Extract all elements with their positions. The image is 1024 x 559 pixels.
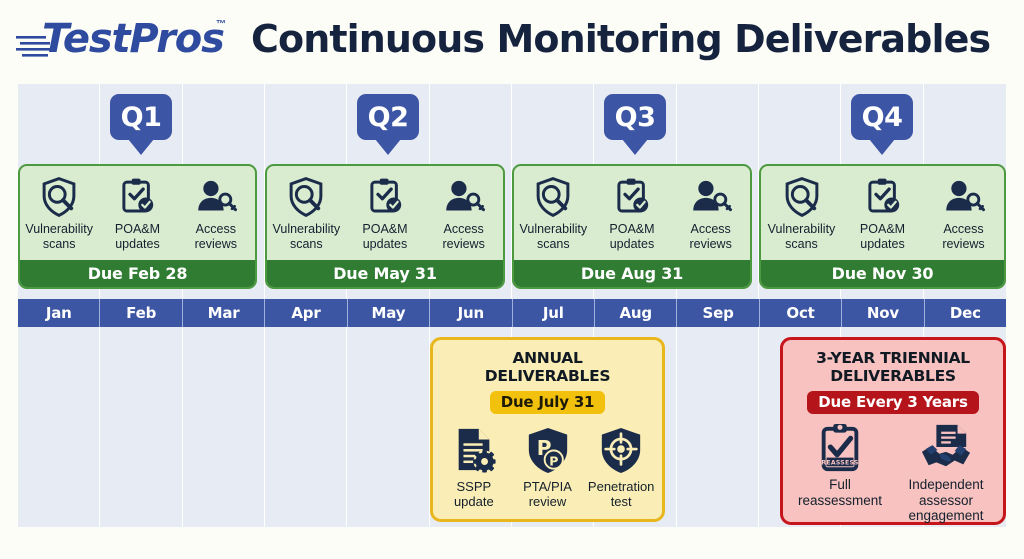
month-cell-jan[interactable]: Jan xyxy=(18,299,100,327)
label-line-2: reviews xyxy=(195,237,237,251)
quarter-due-label-q2: Due May 31 xyxy=(267,260,503,287)
label-line-1: SSPP xyxy=(456,479,491,494)
label-line-2: reviews xyxy=(442,237,484,251)
month-label: Mar xyxy=(208,304,240,322)
quarter-item-vulnerability-scans[interactable]: Vulnerability scans xyxy=(20,174,98,251)
month-cell-aug[interactable]: Aug xyxy=(595,299,677,327)
quarter-item-vulnerability-scans[interactable]: Vulnerability scans xyxy=(514,174,592,251)
month-label: May xyxy=(372,304,406,322)
label-line-2: updates xyxy=(610,237,654,251)
label-line-1: Vulnerability xyxy=(273,222,341,236)
month-label: Jan xyxy=(46,304,72,322)
triennial-deliverables-box[interactable]: 3-YEAR TRIENNIAL DELIVERABLES Due Every … xyxy=(780,337,1006,525)
reassess-icon-text: REASSESS xyxy=(821,460,858,467)
clipboard-check-icon xyxy=(364,174,406,220)
annual-item-sspp-update[interactable]: SSPP update xyxy=(437,424,511,509)
label-line-2: scans xyxy=(785,237,818,251)
triennial-title-line-1: 3-YEAR TRIENNIAL xyxy=(816,349,970,367)
annual-item-label: SSPP update xyxy=(454,479,494,509)
month-label: Dec xyxy=(950,304,981,322)
clipboard-reassess-icon: REASSESS xyxy=(816,422,864,474)
user-key-icon xyxy=(194,174,238,220)
triennial-items: REASSESS Full reassessment xyxy=(783,422,1003,524)
month-bar: JanFebMarAprMayJunJulAugSepOctNovDec xyxy=(18,299,1006,327)
annual-deliverables-box[interactable]: ANNUAL DELIVERABLES Due July 31 xyxy=(430,337,665,522)
triennial-item-independent-assessor[interactable]: Independent assessor engagement xyxy=(893,422,999,524)
quarter-items: Vulnerability scans POA&M updates xyxy=(514,166,750,259)
month-cell-mar[interactable]: Mar xyxy=(183,299,265,327)
month-label: Sep xyxy=(703,304,734,322)
trademark-symbol: ™ xyxy=(216,19,226,30)
triennial-item-label: Independent assessor engagement xyxy=(908,477,983,524)
quarter-panel-q3[interactable]: Vulnerability scans POA&M updates xyxy=(512,164,752,289)
month-cell-nov[interactable]: Nov xyxy=(842,299,924,327)
label-line-2: updates xyxy=(115,237,159,251)
user-key-icon xyxy=(442,174,486,220)
label-line-1: Vulnerability xyxy=(520,222,588,236)
quarter-panel-q4[interactable]: Vulnerability scans POA&M updates xyxy=(759,164,1006,289)
label-line-1: PTA/PIA xyxy=(523,479,572,494)
label-line-1: Independent xyxy=(908,477,983,492)
quarter-item-poam-updates[interactable]: POA&M updates xyxy=(346,174,424,251)
quarter-panel-q2[interactable]: Vulnerability scans POA&M updates xyxy=(265,164,505,289)
quarter-due-label-q1: Due Feb 28 xyxy=(20,260,255,287)
shield-target-icon xyxy=(598,424,644,476)
quarter-item-label: Vulnerability scans xyxy=(273,222,341,251)
label-line-2: scans xyxy=(537,237,570,251)
infographic-root: TestPros ™ Continuous Monitoring Deliver… xyxy=(0,0,1024,559)
svg-text:P: P xyxy=(549,453,558,468)
label-line-1: Full xyxy=(829,477,851,492)
label-line-2: updates xyxy=(860,237,904,251)
testpros-logo: TestPros ™ xyxy=(14,13,229,65)
clipboard-check-icon xyxy=(611,174,653,220)
label-line-1: Access xyxy=(196,222,236,236)
triennial-item-label: Full reassessment xyxy=(798,477,882,508)
quarter-badge-q4[interactable]: Q4 xyxy=(851,94,913,140)
document-gear-icon xyxy=(451,424,497,476)
quarter-item-poam-updates[interactable]: POA&M updates xyxy=(99,174,177,251)
label-line-1: Access xyxy=(443,222,483,236)
quarter-item-label: Vulnerability scans xyxy=(768,222,836,251)
label-line-1: POA&M xyxy=(609,222,654,236)
quarter-item-label: Access reviews xyxy=(689,222,731,251)
shield-privacy-icon: P P xyxy=(525,424,571,476)
quarter-item-poam-updates[interactable]: POA&M updates xyxy=(842,174,922,251)
month-label: Oct xyxy=(786,304,814,322)
triennial-item-full-reassessment[interactable]: REASSESS Full reassessment xyxy=(787,422,893,508)
month-label: Jun xyxy=(458,304,484,322)
user-key-icon xyxy=(689,174,733,220)
month-cell-oct[interactable]: Oct xyxy=(760,299,842,327)
label-line-1: POA&M xyxy=(860,222,905,236)
label-line-2: scans xyxy=(290,237,323,251)
quarter-item-label: POA&M updates xyxy=(609,222,654,251)
quarter-badge-q3[interactable]: Q3 xyxy=(604,94,666,140)
annual-title-line-1: ANNUAL xyxy=(512,349,582,367)
label-line-2: reviews xyxy=(942,237,984,251)
month-cell-feb[interactable]: Feb xyxy=(100,299,182,327)
quarter-panel-q1[interactable]: Vulnerability scans POA&M updates xyxy=(18,164,257,289)
logo-wordmark: TestPros xyxy=(42,17,224,61)
month-cell-dec[interactable]: Dec xyxy=(925,299,1006,327)
quarter-item-label: POA&M updates xyxy=(115,222,160,251)
annual-due-badge: Due July 31 xyxy=(490,391,606,414)
label-line-1: Penetration xyxy=(588,479,655,494)
triennial-title: 3-YEAR TRIENNIAL DELIVERABLES xyxy=(783,340,1003,385)
month-label: Nov xyxy=(867,304,899,322)
shield-magnifier-icon xyxy=(285,174,327,220)
label-line-2: scans xyxy=(43,237,76,251)
quarter-items: Vulnerability scans POA&M updates xyxy=(267,166,503,259)
quarter-item-vulnerability-scans[interactable]: Vulnerability scans xyxy=(761,174,841,251)
quarter-item-label: Vulnerability scans xyxy=(25,222,93,251)
quarter-item-label: POA&M updates xyxy=(362,222,407,251)
month-cell-apr[interactable]: Apr xyxy=(265,299,347,327)
month-label: Apr xyxy=(291,304,320,322)
label-line-2: reassessment xyxy=(798,493,882,508)
label-line-2: assessor xyxy=(919,493,973,508)
quarter-item-access-reviews[interactable]: Access reviews xyxy=(923,174,1003,251)
label-line-1: Access xyxy=(690,222,730,236)
quarter-item-label: Access reviews xyxy=(442,222,484,251)
header: TestPros ™ Continuous Monitoring Deliver… xyxy=(0,0,1024,78)
annual-title-line-2: DELIVERABLES xyxy=(485,367,610,385)
clipboard-check-icon xyxy=(116,174,158,220)
label-line-2: update xyxy=(454,494,494,509)
quarter-items: Vulnerability scans POA&M updates xyxy=(761,166,1004,259)
quarter-badge-q1[interactable]: Q1 xyxy=(110,94,172,140)
shield-magnifier-icon xyxy=(38,174,80,220)
label-line-1: Vulnerability xyxy=(25,222,93,236)
annual-item-label: PTA/PIA review xyxy=(523,479,572,509)
label-line-3: engagement xyxy=(908,508,983,523)
month-cell-may[interactable]: May xyxy=(348,299,430,327)
quarter-items: Vulnerability scans POA&M updates xyxy=(20,166,255,259)
quarter-item-label: Access reviews xyxy=(195,222,237,251)
triennial-due-badge: Due Every 3 Years xyxy=(807,391,979,414)
page-title: Continuous Monitoring Deliverables xyxy=(251,17,990,61)
annual-item-penetration-test[interactable]: Penetration test xyxy=(584,424,658,509)
month-label: Jul xyxy=(543,304,564,322)
month-label: Aug xyxy=(619,304,651,322)
quarter-badge-q2[interactable]: Q2 xyxy=(357,94,419,140)
quarter-due-label-q3: Due Aug 31 xyxy=(514,260,750,287)
label-line-2: test xyxy=(611,494,632,509)
quarter-item-label: Vulnerability scans xyxy=(520,222,588,251)
quarter-item-access-reviews[interactable]: Access reviews xyxy=(425,174,503,251)
label-line-1: Access xyxy=(943,222,983,236)
label-line-1: POA&M xyxy=(115,222,160,236)
label-line-1: Vulnerability xyxy=(768,222,836,236)
annual-title: ANNUAL DELIVERABLES xyxy=(433,340,662,385)
shield-magnifier-icon xyxy=(781,174,823,220)
quarter-item-poam-updates[interactable]: POA&M updates xyxy=(593,174,671,251)
label-line-2: updates xyxy=(363,237,407,251)
annual-item-pta-pia-review[interactable]: P P PTA/PIA review xyxy=(511,424,585,509)
quarter-item-access-reviews[interactable]: Access reviews xyxy=(672,174,750,251)
month-cell-sep[interactable]: Sep xyxy=(677,299,759,327)
month-label: Feb xyxy=(126,304,156,322)
quarter-item-access-reviews[interactable]: Access reviews xyxy=(177,174,255,251)
annual-items: SSPP update P P PTA/PIA review xyxy=(433,424,662,509)
annual-item-label: Penetration test xyxy=(588,479,655,509)
quarter-due-label-q4: Due Nov 30 xyxy=(761,260,1004,287)
month-cell-jun[interactable]: Jun xyxy=(430,299,512,327)
label-line-2: reviews xyxy=(689,237,731,251)
handshake-document-icon xyxy=(920,422,972,474)
quarter-item-label: POA&M updates xyxy=(860,222,905,251)
quarter-item-vulnerability-scans[interactable]: Vulnerability scans xyxy=(267,174,345,251)
user-key-icon xyxy=(942,174,986,220)
shield-magnifier-icon xyxy=(532,174,574,220)
label-line-2: review xyxy=(529,494,567,509)
month-cell-jul[interactable]: Jul xyxy=(513,299,595,327)
clipboard-check-icon xyxy=(862,174,904,220)
triennial-title-line-2: DELIVERABLES xyxy=(830,367,955,385)
quarter-item-label: Access reviews xyxy=(942,222,984,251)
label-line-1: POA&M xyxy=(362,222,407,236)
